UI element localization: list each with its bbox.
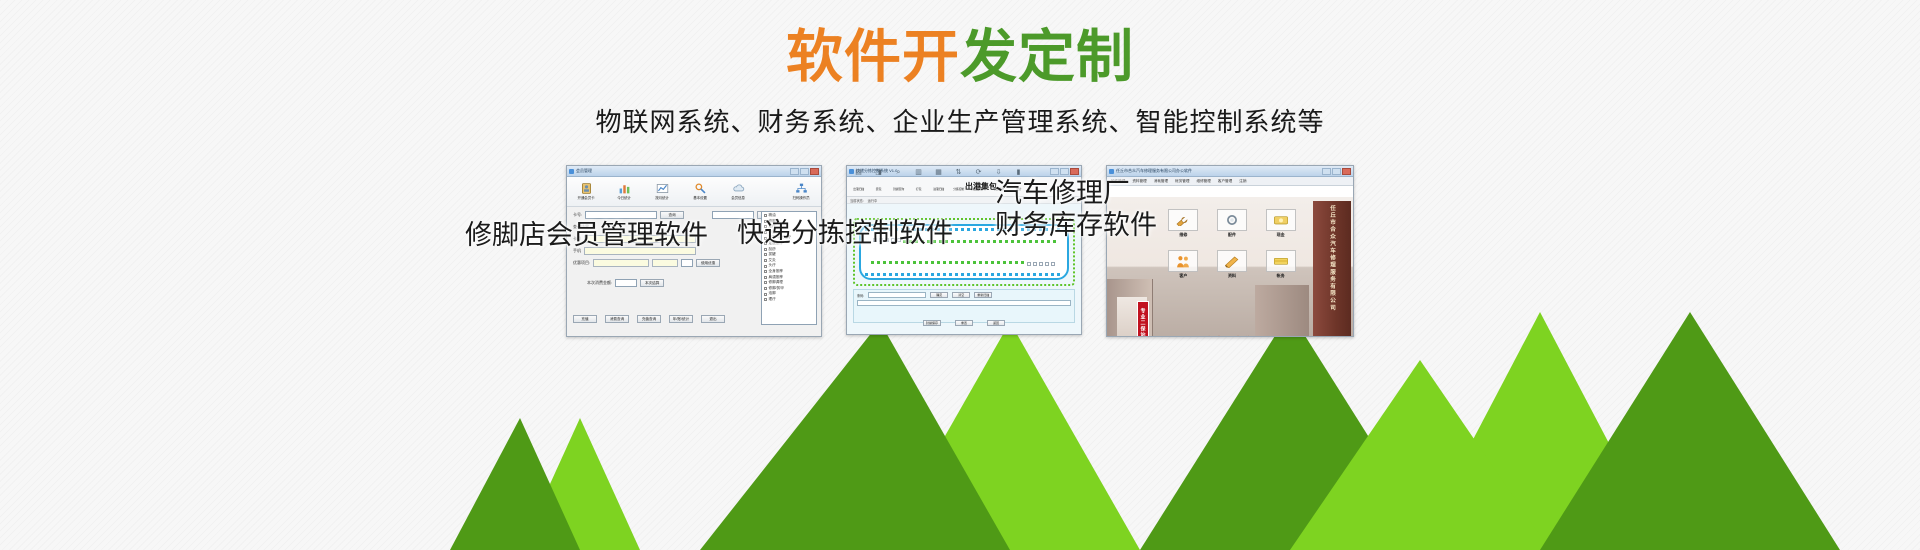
window-controls[interactable] bbox=[790, 168, 819, 175]
document-icon bbox=[1217, 250, 1247, 272]
discount-extra[interactable] bbox=[652, 259, 678, 267]
line-chart-icon bbox=[656, 182, 669, 195]
input-panel: 条码: 确定 清空 重新扫描 封袋保存 重置 返回 bbox=[853, 289, 1075, 323]
conveyor-dots-green-2 bbox=[871, 261, 1025, 264]
toolbar-item-pack[interactable]: ◨ 装包 bbox=[871, 169, 886, 195]
photo-banner-text: 专业正业站 bbox=[1153, 335, 1309, 337]
checkbox-icon[interactable] bbox=[764, 270, 767, 273]
barcode-label: 条码: bbox=[857, 293, 864, 298]
search-icon: ⌕ bbox=[891, 169, 906, 177]
window-controls[interactable] bbox=[1050, 168, 1079, 175]
clear-button[interactable]: 清空 bbox=[952, 292, 970, 298]
slot-box[interactable] bbox=[1051, 262, 1055, 266]
red-vertical-sign: 专业二保站 bbox=[1137, 301, 1149, 337]
card-input[interactable] bbox=[585, 211, 657, 219]
sync-icon: ⟳ bbox=[971, 169, 986, 177]
inbound-icon: ▦ bbox=[931, 169, 946, 177]
amount-label: 本次消费金额: bbox=[587, 280, 612, 286]
close-icon[interactable] bbox=[1070, 168, 1079, 175]
rescan-button[interactable]: 重新扫描 bbox=[974, 292, 992, 298]
toolbar[interactable]: 开通会员卡 今日统计 bbox=[567, 177, 821, 207]
toolbar-label: 开通会员卡 bbox=[571, 196, 601, 201]
sort-icon: ⇅ bbox=[951, 169, 966, 177]
toolbar-label: 基本设置 bbox=[685, 196, 715, 201]
scan-icon: ▤ bbox=[851, 169, 866, 177]
page-subtitle: 物联网系统、财务系统、企业生产管理系统、智能控制系统等 bbox=[0, 102, 1920, 139]
toolbar-label: 进港扫描 bbox=[933, 187, 944, 191]
icon-button-ledger[interactable]: 帐务 bbox=[1263, 250, 1299, 279]
caption-auto-repair-software: 汽车修理厂 财务库存软件 bbox=[995, 178, 1157, 242]
icon-label: 帐务 bbox=[1263, 273, 1299, 279]
screenshot-row: 会员管理 开通会员卡 bbox=[0, 165, 1920, 337]
checkbox-icon[interactable] bbox=[764, 287, 767, 290]
maximize-icon[interactable] bbox=[1332, 168, 1341, 175]
menu-item-logout[interactable]: 注销 bbox=[1239, 179, 1246, 184]
window-title: 任丘市合众汽车修理服务有限公司办公软件 bbox=[1116, 168, 1322, 174]
minimize-icon[interactable] bbox=[1322, 168, 1331, 175]
icon-label: 资料 bbox=[1214, 273, 1250, 279]
window-title: 会员管理 bbox=[576, 168, 790, 174]
cloud-icon bbox=[732, 182, 745, 195]
discount-small[interactable] bbox=[681, 259, 693, 267]
icon-button-documents[interactable]: 资料 bbox=[1214, 250, 1250, 279]
list-item[interactable]: 理疗 bbox=[764, 297, 814, 303]
back-button[interactable]: 返回 bbox=[987, 320, 1005, 326]
company-vertical-sign: 任丘市合众汽车修理服务有限公司 bbox=[1313, 201, 1351, 337]
icon-label: 维修 bbox=[1165, 232, 1201, 238]
reset-button[interactable]: 重置 bbox=[955, 320, 973, 326]
headline-part-orange: 软件开 bbox=[786, 24, 960, 90]
box-icon: ◨ bbox=[871, 169, 886, 177]
toolbar-label: 今日统计 bbox=[609, 196, 639, 201]
toolbar-label: 打包 bbox=[916, 187, 921, 191]
slot-box[interactable] bbox=[1045, 262, 1049, 266]
recharge-query-button[interactable]: 充值查询 bbox=[637, 315, 661, 323]
toolbar-item-settings[interactable]: 基本设置 bbox=[685, 182, 715, 201]
consumption-query-button[interactable]: 消费查询 bbox=[605, 315, 629, 323]
close-icon[interactable] bbox=[810, 168, 819, 175]
toolbar-item-operator[interactable]: 扫码操作员 bbox=[785, 182, 817, 201]
toolbar-label: 封袋查询 bbox=[893, 187, 904, 191]
barcode-input[interactable] bbox=[868, 292, 926, 298]
discount-label: 优惠项目: bbox=[573, 260, 590, 266]
titlebar: 任丘市合众汽车修理服务有限公司办公软件 bbox=[1107, 166, 1353, 177]
red-sign-text: 专业二保站 bbox=[1140, 308, 1147, 337]
menu-item-customers[interactable]: 客户管理 bbox=[1218, 179, 1232, 184]
conveyor-dots-blue-bottom bbox=[865, 273, 1063, 276]
checkbox-icon[interactable] bbox=[764, 265, 767, 268]
network-icon bbox=[795, 182, 808, 195]
toolbar-item-outbound-scan[interactable]: ▤ 出港扫描 bbox=[851, 169, 866, 195]
card-label: 卡号: bbox=[573, 212, 582, 218]
slot-box[interactable] bbox=[1033, 262, 1037, 266]
toolbar-item-today-stats[interactable]: 今日统计 bbox=[609, 182, 639, 201]
headline-part-green: 发定制 bbox=[960, 24, 1134, 90]
icon-grid[interactable]: 维修 配件 bbox=[1159, 209, 1305, 279]
maximize-icon[interactable] bbox=[800, 168, 809, 175]
toolbar-item-package[interactable]: ▥ 打包 bbox=[911, 169, 926, 195]
export-icon: ⇩ bbox=[991, 169, 1006, 177]
window-body: 开通会员卡 今日统计 bbox=[567, 177, 821, 337]
section-header: 出港集包 bbox=[965, 181, 997, 192]
stats-icon: ▮ bbox=[1011, 169, 1026, 177]
big-button-row[interactable]: 封袋保存 重置 返回 bbox=[854, 320, 1074, 326]
checkbox-icon[interactable] bbox=[764, 214, 767, 217]
caption-line-2: 财务库存软件 bbox=[995, 210, 1157, 242]
toolbar-item-member-info[interactable]: 会员信息 bbox=[723, 182, 753, 201]
maximize-icon[interactable] bbox=[1060, 168, 1069, 175]
barcode-row[interactable]: 条码: 确定 清空 重新扫描 bbox=[854, 290, 1074, 298]
gear-icon bbox=[1217, 209, 1247, 231]
wide-result-field[interactable] bbox=[857, 300, 1071, 306]
app-icon bbox=[1109, 169, 1114, 174]
toolbar-label: 出港扫描 bbox=[853, 187, 864, 191]
list-item-label: 理疗 bbox=[769, 297, 776, 303]
toolbar-item-inbound-scan[interactable]: ▦ 进港扫描 bbox=[931, 169, 946, 195]
caption-express-sorting-software: 快递分拣控制软件 bbox=[737, 218, 953, 250]
slot-box[interactable] bbox=[1027, 262, 1031, 266]
checkbox-icon[interactable] bbox=[764, 253, 767, 256]
icon-label: 现金 bbox=[1263, 232, 1299, 238]
page-title: 软件开发定制 bbox=[0, 26, 1920, 90]
wrench-icon bbox=[1168, 209, 1198, 231]
menu-item-accounts[interactable]: 帐务管理 bbox=[1175, 179, 1189, 184]
toolbar-label: 装包 bbox=[876, 187, 881, 191]
member-card-icon bbox=[580, 182, 593, 195]
icon-button-cash[interactable]: 现金 bbox=[1263, 209, 1299, 238]
toolbar-label: 扫码操作员 bbox=[785, 196, 817, 201]
company-sign-text: 任丘市合众汽车修理服务有限公司 bbox=[1328, 205, 1336, 337]
bar-chart-icon bbox=[618, 182, 631, 195]
menu-item-repair[interactable]: 维修管理 bbox=[1197, 179, 1211, 184]
toolbar-item-sort-control[interactable]: ⇅ 分拣控制 bbox=[951, 169, 966, 195]
exit-button[interactable]: 退出 bbox=[701, 315, 725, 323]
checkbox-icon[interactable] bbox=[764, 259, 767, 262]
yearly-stats-button[interactable]: 年/账/统计 bbox=[669, 315, 693, 323]
icon-button-repair[interactable]: 维修 bbox=[1165, 209, 1201, 238]
icon-label: 客户 bbox=[1165, 273, 1201, 279]
ledger-icon bbox=[1266, 250, 1296, 272]
query-button[interactable]: 查询 bbox=[660, 211, 684, 219]
icon-button-customer[interactable]: 客户 bbox=[1165, 250, 1201, 279]
package-icon: ▥ bbox=[911, 169, 926, 177]
toolbar-label: 按月统计 bbox=[647, 196, 677, 201]
cash-icon bbox=[1266, 209, 1296, 231]
amount-input[interactable] bbox=[615, 279, 637, 287]
toolbar-label: 会员信息 bbox=[723, 196, 753, 201]
toolbar-item-month-stats[interactable]: 按月统计 bbox=[647, 182, 677, 201]
discount-input[interactable] bbox=[593, 259, 649, 267]
checkbox-icon[interactable] bbox=[764, 281, 767, 284]
recharge-button[interactable]: 充值 bbox=[573, 315, 597, 323]
action-button-row[interactable]: 充值 消费查询 充值查询 年/账/统计 退出 bbox=[573, 315, 725, 323]
icon-button-parts[interactable]: 配件 bbox=[1214, 209, 1250, 238]
caption-line-1: 汽车修理厂 bbox=[995, 178, 1157, 210]
slot-group-bottom[interactable] bbox=[1027, 262, 1055, 266]
mountain-decoration bbox=[0, 300, 1920, 550]
building-right bbox=[1255, 285, 1309, 337]
checkbox-icon[interactable] bbox=[764, 276, 767, 279]
people-icon bbox=[1168, 250, 1198, 272]
titlebar: 会员管理 bbox=[567, 166, 821, 177]
app-icon bbox=[569, 169, 574, 174]
apply-discount-button[interactable]: 使用优惠 bbox=[696, 259, 720, 267]
caption-membership-software: 修脚店会员管理软件 bbox=[465, 220, 708, 252]
status-label: 当前状态: bbox=[850, 198, 864, 203]
settle-button[interactable]: 本次结算 bbox=[640, 279, 664, 287]
close-icon[interactable] bbox=[1342, 168, 1351, 175]
seal-save-button[interactable]: 封袋保存 bbox=[923, 320, 941, 326]
confirm-button[interactable]: 确定 bbox=[930, 292, 948, 298]
toolbar-item-member-card[interactable]: 开通会员卡 bbox=[571, 182, 601, 201]
checkbox-icon[interactable] bbox=[764, 293, 767, 296]
toolbar-item-bag-query[interactable]: ⌕ 封袋查询 bbox=[891, 169, 906, 195]
checkbox-icon[interactable] bbox=[764, 298, 767, 301]
minimize-icon[interactable] bbox=[790, 168, 799, 175]
promo-banner: 软件开发定制 物联网系统、财务系统、企业生产管理系统、智能控制系统等 会员管理 bbox=[0, 0, 1920, 550]
slot-box[interactable] bbox=[1039, 262, 1043, 266]
minimize-icon[interactable] bbox=[1050, 168, 1059, 175]
window-controls[interactable] bbox=[1322, 168, 1351, 175]
icon-label: 配件 bbox=[1214, 232, 1250, 238]
toolbar-label: 分拣控制 bbox=[953, 187, 964, 191]
status-value: 运行中 bbox=[868, 198, 878, 203]
settings-icon bbox=[694, 182, 707, 195]
